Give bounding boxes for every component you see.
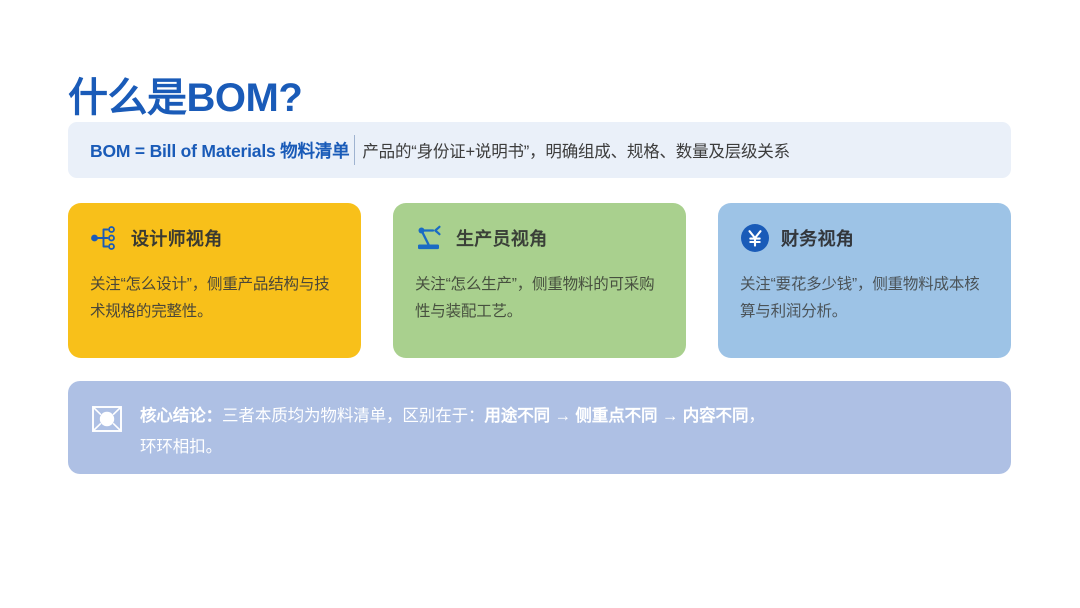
perspective-cards-row: 设计师视角 关注“怎么设计”，侧重产品结构与技术规格的完整性。 生产员视角 (68, 203, 1011, 358)
conclusion-label: 核心结论： (140, 407, 222, 425)
card-body-text: 关注“要花多少钱”，侧重物料成本核算与利润分析。 (740, 271, 989, 325)
card-header: 生产员视角 (415, 223, 664, 253)
definition-bar: BOM = Bill of Materials 物料清单 产品的“身份证+说明书… (68, 122, 1011, 178)
card-header: 设计师视角 (90, 223, 339, 253)
definition-term: BOM = Bill of Materials 物料清单 (90, 138, 349, 163)
definition-description: 产品的“身份证+说明书”，明确组成、规格、数量及层级关系 (362, 138, 790, 162)
conclusion-emphasis: 用途不同 → 侧重点不同 → 内容不同 (484, 407, 748, 425)
insight-square-icon (90, 402, 124, 436)
hierarchy-tree-icon (90, 223, 120, 253)
conclusion-bar: 核心结论：三者本质均为物料清单，区别在于：用途不同 → 侧重点不同 → 内容不同… (68, 381, 1011, 474)
page-title: 什么是BOM? (68, 75, 302, 121)
card-title: 生产员视角 (456, 225, 548, 251)
card-header: 财务视角 (740, 223, 989, 253)
card-body-text: 关注“怎么生产”，侧重物料的可采购性与装配工艺。 (415, 271, 664, 325)
card-producer-perspective[interactable]: 生产员视角 关注“怎么生产”，侧重物料的可采购性与装配工艺。 (393, 203, 686, 358)
conclusion-text: 核心结论：三者本质均为物料清单，区别在于：用途不同 → 侧重点不同 → 内容不同… (140, 401, 765, 462)
slide-canvas: 什么是BOM? BOM = Bill of Materials 物料清单 产品的… (0, 0, 1080, 608)
card-title: 财务视角 (781, 225, 854, 251)
conclusion-text-before: 三者本质均为物料清单，区别在于： (222, 407, 484, 425)
robot-arm-icon (415, 223, 445, 253)
conclusion-text-after: ， (748, 407, 764, 425)
conclusion-second-line: 环环相扣。 (140, 432, 765, 463)
card-finance-perspective[interactable]: 财务视角 关注“要花多少钱”，侧重物料成本核算与利润分析。 (718, 203, 1011, 358)
yuan-currency-icon (740, 223, 770, 253)
card-designer-perspective[interactable]: 设计师视角 关注“怎么设计”，侧重产品结构与技术规格的完整性。 (68, 203, 361, 358)
definition-divider (354, 135, 355, 165)
card-title: 设计师视角 (131, 225, 223, 251)
card-body-text: 关注“怎么设计”，侧重产品结构与技术规格的完整性。 (90, 271, 339, 325)
